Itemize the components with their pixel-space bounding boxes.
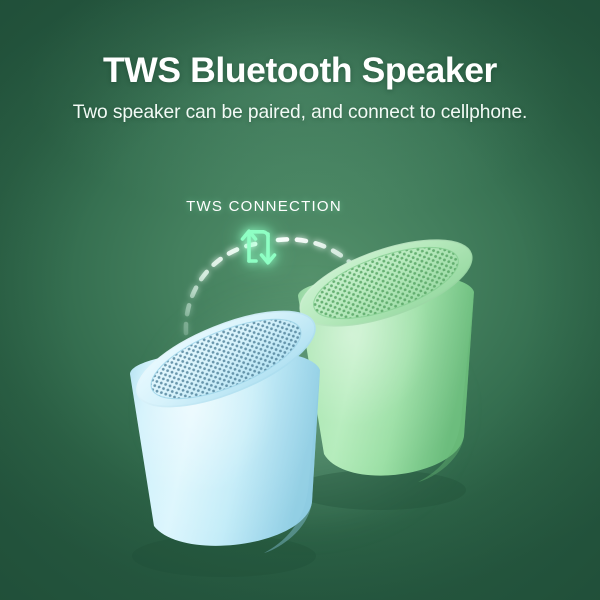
speaker-blue bbox=[108, 312, 358, 582]
page-title: TWS Bluetooth Speaker bbox=[0, 0, 600, 91]
connection-label: TWS CONNECTION bbox=[0, 198, 528, 215]
page-subtitle: Two speaker can be paired, and connect t… bbox=[0, 91, 600, 124]
header-block: TWS Bluetooth Speaker Two speaker can be… bbox=[0, 0, 600, 124]
product-banner: TWS Bluetooth Speaker Two speaker can be… bbox=[0, 0, 600, 600]
speaker-blue-graphic bbox=[108, 312, 358, 582]
